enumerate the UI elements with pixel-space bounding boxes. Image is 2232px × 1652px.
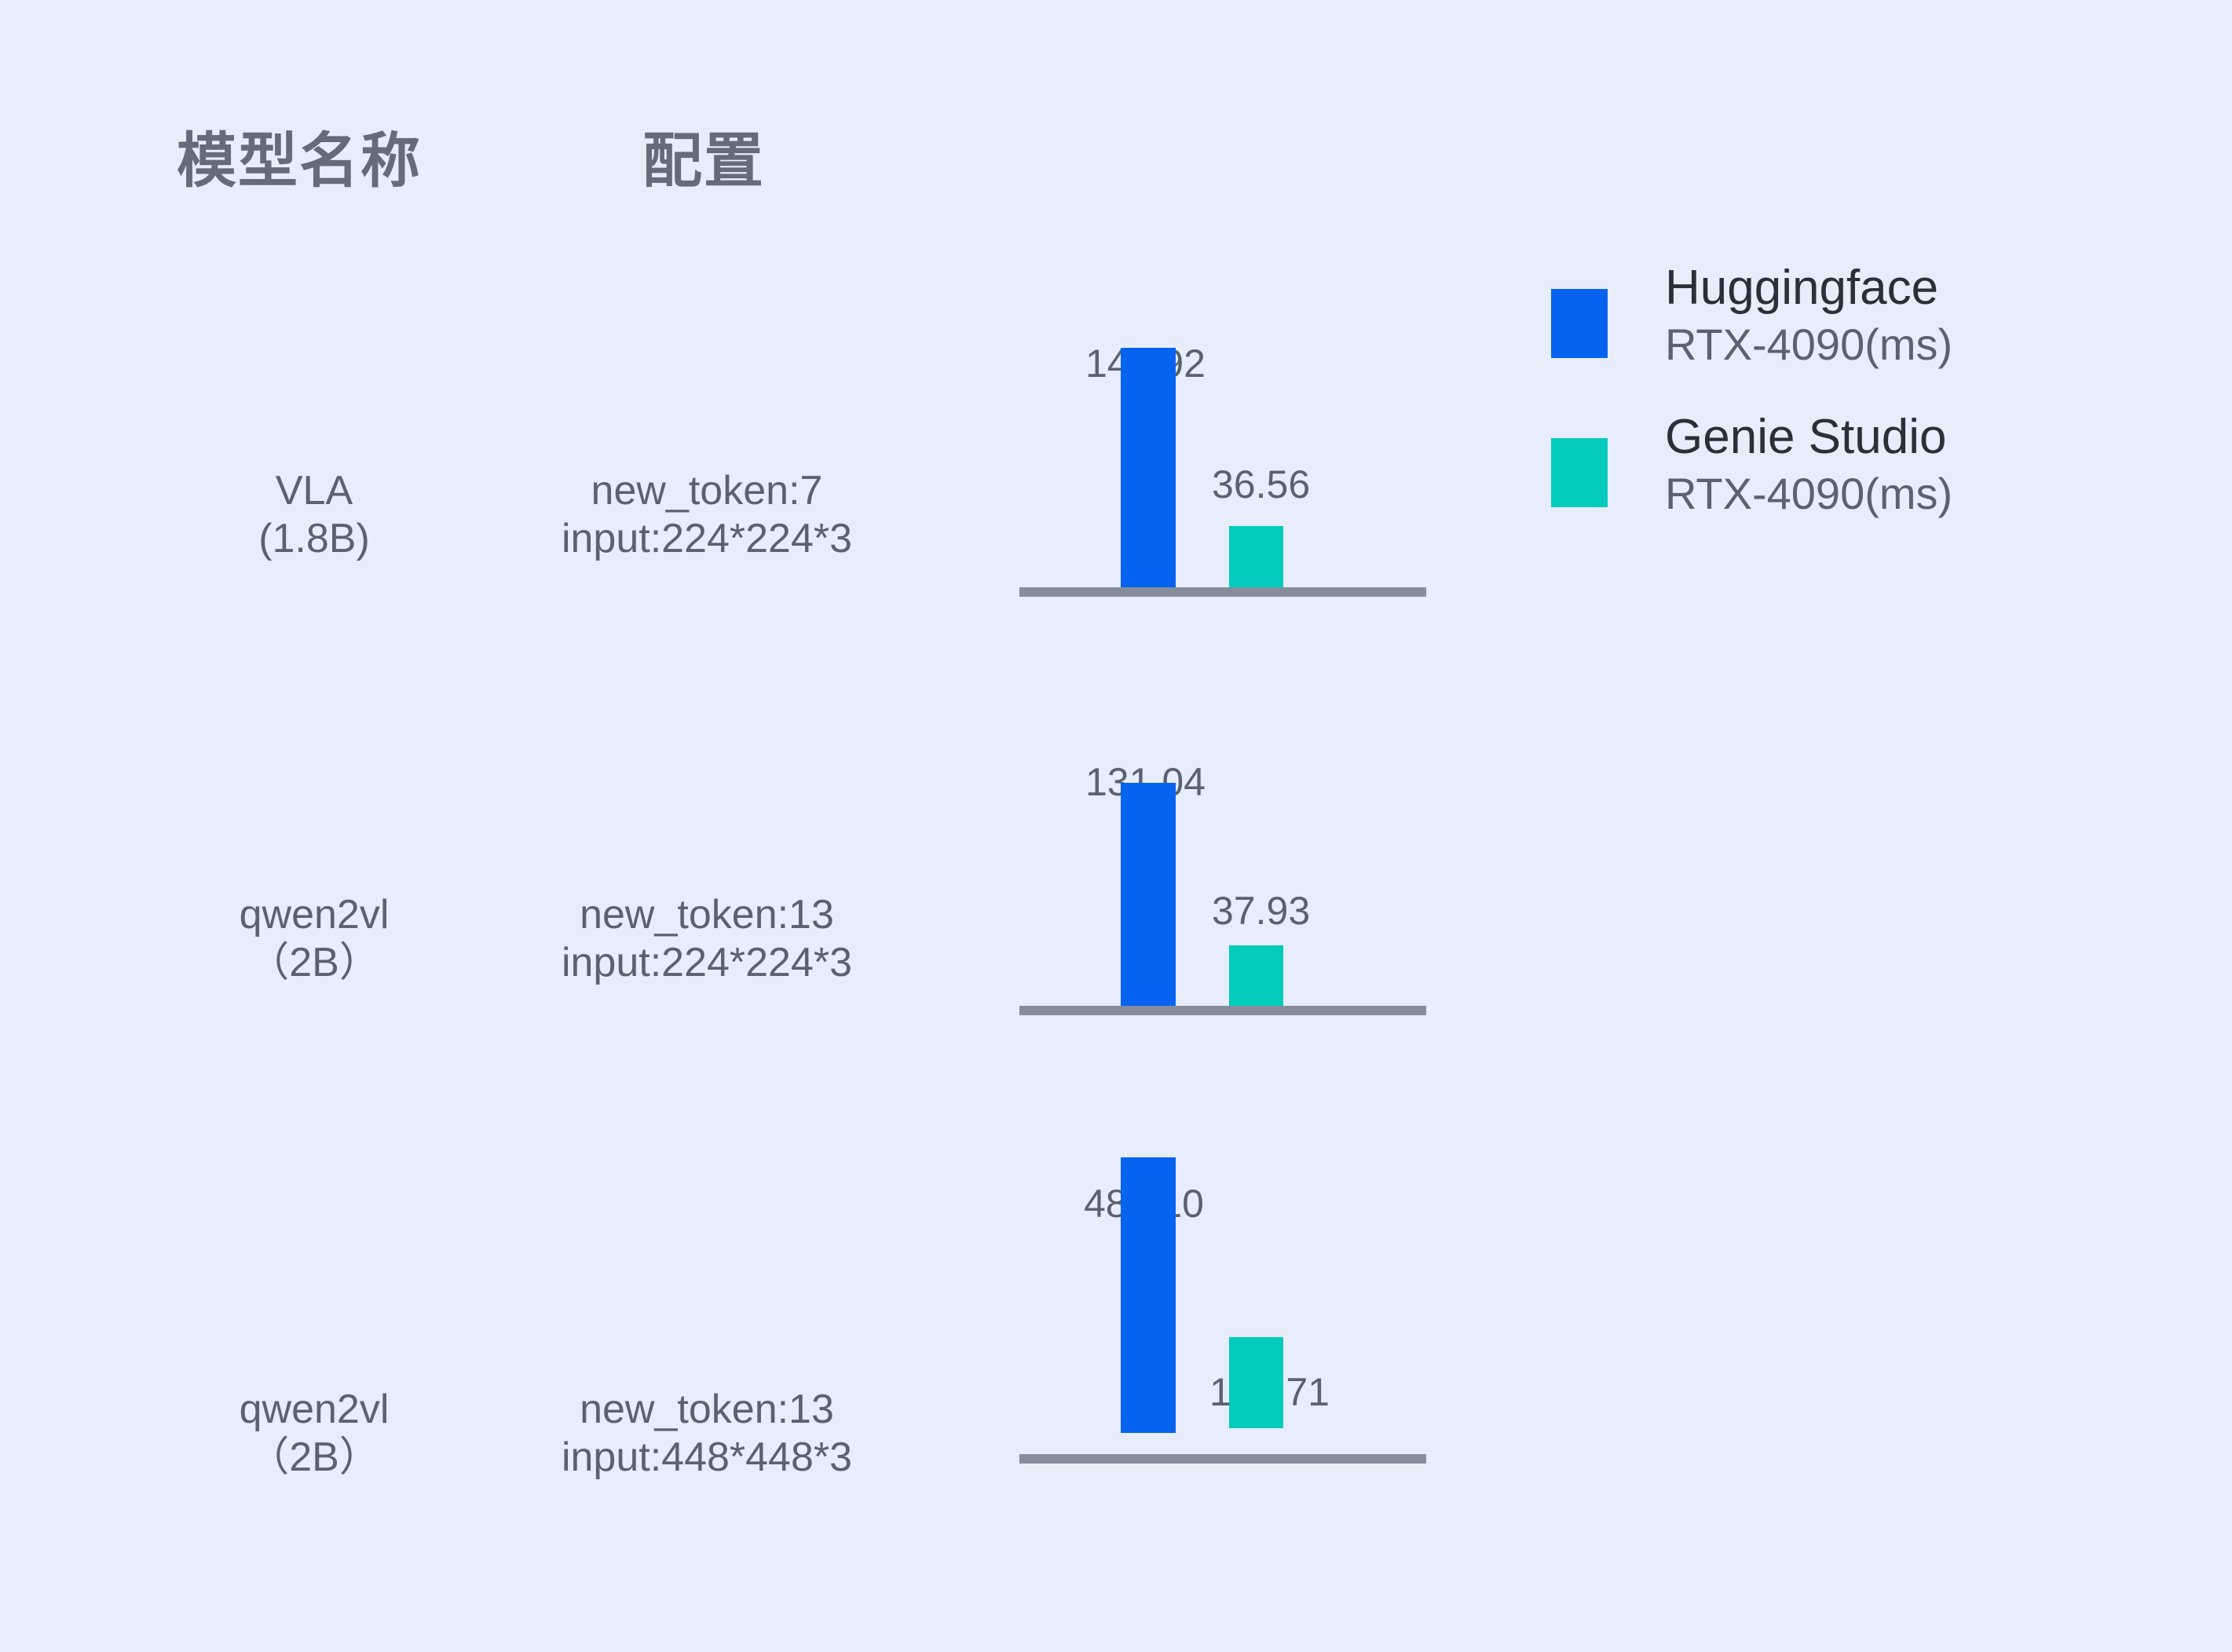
row-model-line-1: VLA	[149, 467, 479, 515]
row-baseline	[1019, 1006, 1426, 1015]
column-header-config: 配置	[642, 132, 765, 192]
bar-value-genie-studio: 36.56	[1212, 465, 1310, 504]
legend-text-huggingface: Huggingface RTX-4090(ms)	[1665, 259, 1952, 373]
row-plot-area: 488.10 160.71	[1019, 1178, 1428, 1464]
legend-subtitle-genie-studio: RTX-4090(ms)	[1665, 466, 1952, 522]
row-config-line-2: input:224*224*3	[432, 939, 982, 987]
chart-canvas: 模型名称 配置 VLA (1.8B) new_token:7 input:224…	[0, 0, 2232, 1652]
row-model-label: VLA (1.8B)	[149, 467, 479, 564]
row-config-line-1: new_token:7	[432, 467, 982, 515]
bar-genie-studio	[1229, 1337, 1283, 1428]
column-header-model-name: 模型名称	[177, 132, 422, 192]
legend-subtitle-huggingface: RTX-4090(ms)	[1665, 316, 1952, 373]
row-config-label: new_token:13 input:448*448*3	[432, 1386, 982, 1482]
row-config-line-1: new_token:13	[432, 891, 982, 939]
bar-value-genie-studio: 37.93	[1212, 891, 1310, 930]
row-plot-area: 131.04 37.93	[1019, 756, 1428, 1015]
bar-huggingface	[1121, 348, 1176, 587]
legend-text-genie-studio: Genie Studio RTX-4090(ms)	[1665, 408, 1952, 522]
row-config-line-2: input:448*448*3	[432, 1434, 982, 1482]
row-model-label: qwen2vl （2B）	[149, 891, 479, 988]
chart-row: qwen2vl （2B） new_token:13 input:448*448*…	[0, 1178, 2232, 1508]
bar-genie-studio	[1229, 945, 1283, 1006]
legend-title-huggingface: Huggingface	[1665, 259, 1952, 316]
row-config-line-2: input:224*224*3	[432, 515, 982, 563]
row-model-line-1: qwen2vl	[149, 1386, 479, 1434]
row-config-label: new_token:13 input:224*224*3	[432, 891, 982, 988]
bar-huggingface	[1121, 783, 1176, 1006]
row-config-label: new_token:7 input:224*224*3	[432, 467, 982, 564]
row-model-line-2: （2B）	[149, 939, 479, 987]
bar-genie-studio	[1229, 526, 1283, 587]
row-plot-area: 141.92 36.56	[1019, 338, 1428, 597]
legend-swatch-genie-studio-icon	[1551, 438, 1608, 507]
row-config-line-1: new_token:13	[432, 1386, 982, 1434]
row-model-label: qwen2vl （2B）	[149, 1386, 479, 1482]
row-baseline	[1019, 587, 1426, 597]
row-model-line-2: (1.8B)	[149, 515, 479, 563]
row-model-line-1: qwen2vl	[149, 891, 479, 939]
legend-title-genie-studio: Genie Studio	[1665, 408, 1952, 466]
chart-row: qwen2vl （2B） new_token:13 input:224*224*…	[0, 756, 2232, 1070]
bar-huggingface	[1121, 1157, 1176, 1433]
legend-swatch-huggingface-icon	[1551, 289, 1608, 358]
row-baseline	[1019, 1454, 1426, 1464]
row-model-line-2: （2B）	[149, 1434, 479, 1482]
